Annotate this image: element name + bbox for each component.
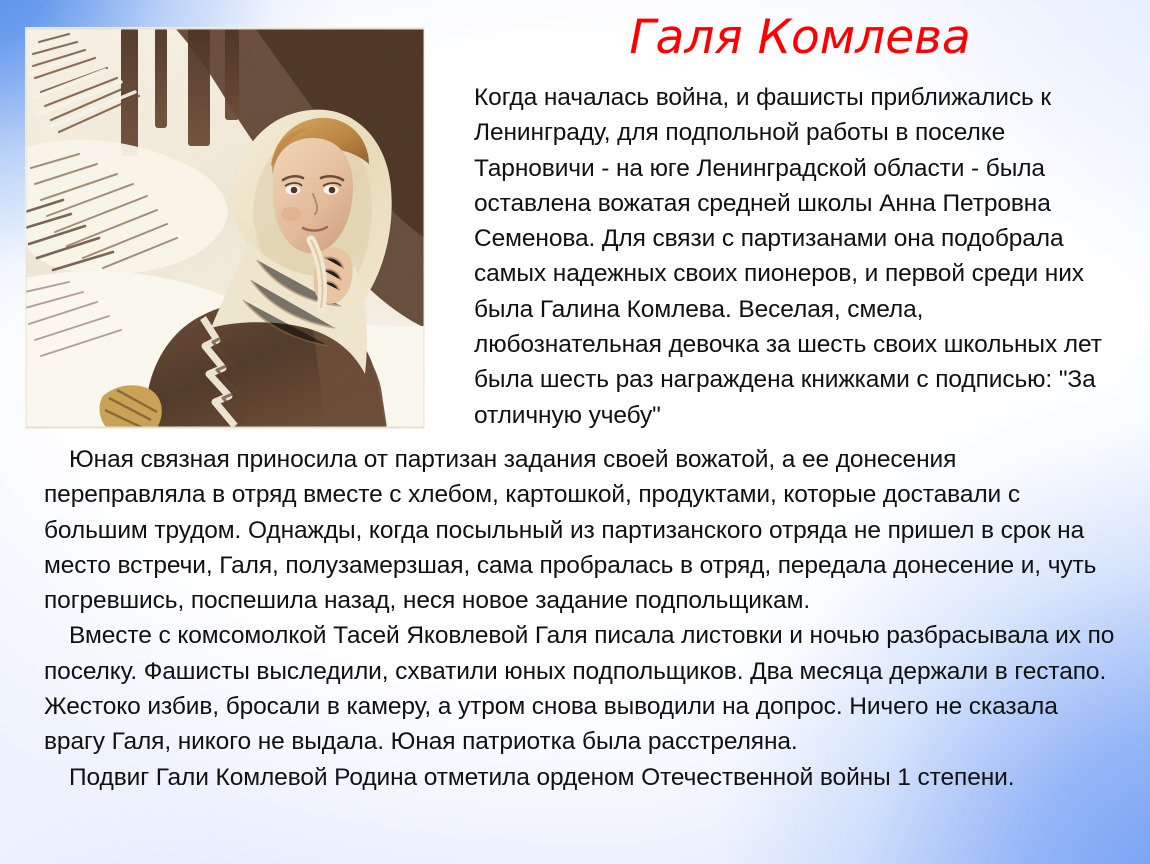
paragraph-1: Юная связная приносила от партизан задан… — [44, 442, 1116, 618]
paragraph-2: Вместе с комсомолкой Тасей Яковлевой Гал… — [44, 618, 1116, 759]
body-paragraphs: Юная связная приносила от партизан задан… — [44, 442, 1116, 795]
slide-canvas: Галя Комлева — [0, 0, 1150, 864]
portrait-illustration-graphic — [26, 28, 424, 428]
intro-paragraph: Когда началась война, и фашисты приближа… — [474, 80, 1114, 433]
page-title: Галя Комлева — [470, 10, 1130, 66]
portrait-illustration — [26, 28, 424, 428]
paragraph-3: Подвиг Гали Комлевой Родина отметила орд… — [44, 760, 1116, 795]
